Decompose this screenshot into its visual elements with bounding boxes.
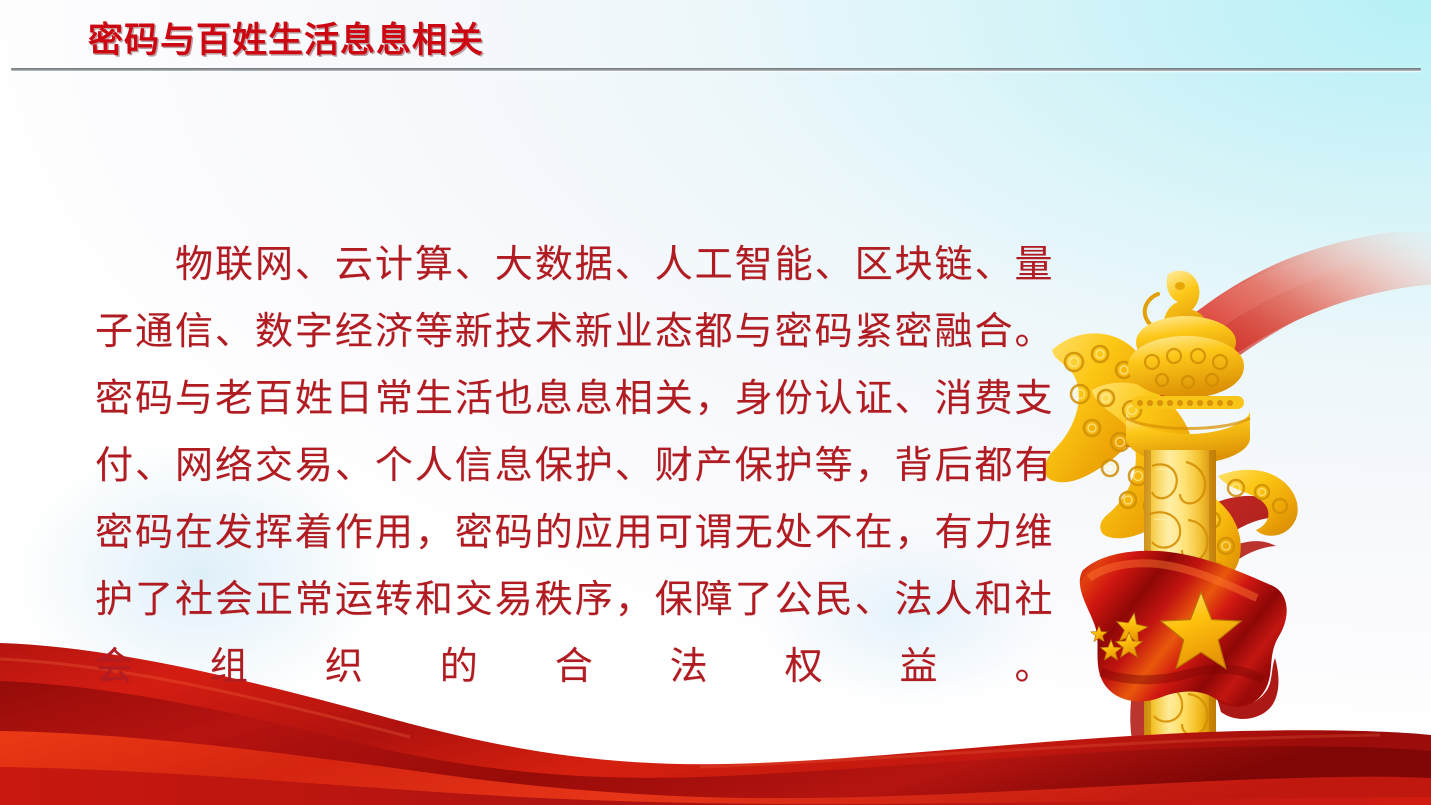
page-title: 密码与百姓生活息息相关 bbox=[88, 12, 484, 63]
red-silk-ribbon-decoration bbox=[1055, 232, 1431, 447]
body-paragraph: 物联网、云计算、大数据、人工智能、区块链、量子通信、数字经济等新技术新业态都与密… bbox=[95, 232, 1053, 768]
china-flag-decoration bbox=[1075, 540, 1375, 725]
huabiao-column-decoration bbox=[1040, 270, 1340, 805]
slide-header: 密码与百姓生活息息相关 bbox=[0, 0, 1431, 80]
header-divider-highlight bbox=[11, 71, 1421, 73]
slide-canvas: 密码与百姓生活息息相关 物联网、云计算、大数据、人工智能、区块链、量子通信、数字… bbox=[0, 0, 1431, 805]
